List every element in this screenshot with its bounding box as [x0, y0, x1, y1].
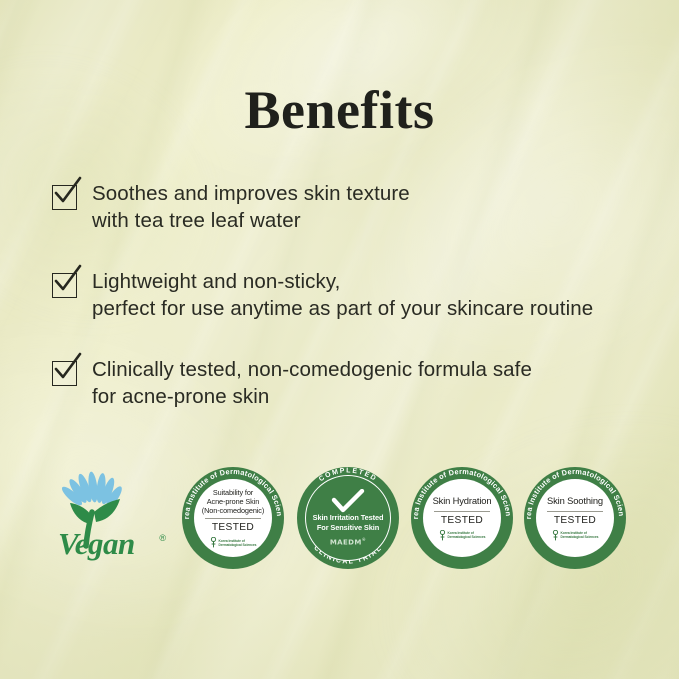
- benefit-line-1: Lightweight and non-sticky,: [92, 270, 340, 293]
- check-icon: [331, 489, 365, 513]
- benefit-line-2: perfect for use anytime as part of your …: [92, 295, 593, 322]
- list-item: Lightweight and non-sticky, perfect for …: [52, 268, 652, 322]
- benefits-list: Soothes and improves skin texture with t…: [52, 180, 652, 444]
- seal-skin-hydration: Korea Institute of Dermatological Scienc…: [410, 466, 514, 570]
- list-item-text: Clinically tested, non-comedogenic formu…: [92, 356, 532, 410]
- checkmark-icon: [52, 185, 77, 210]
- seal-footer-text: Korea Institute of Dermatological Scienc…: [219, 539, 257, 547]
- seal-line-2: Acne-prone Skin: [207, 497, 259, 506]
- vegan-wordmark: Vegan: [58, 526, 135, 562]
- benefit-line-1: Clinically tested, non-comedogenic formu…: [92, 358, 532, 381]
- brand-mark: MAEDM®: [330, 537, 366, 546]
- seal-clinical-trial: COMPLETED CLINICAL TRIAL Skin Irritation…: [296, 466, 400, 570]
- divider: [434, 511, 490, 512]
- seal-status: TESTED: [441, 515, 483, 526]
- seal-line-1: Suitability for: [213, 488, 253, 497]
- divider: [205, 518, 261, 519]
- seal-status: TESTED: [554, 515, 596, 526]
- seal-line-3: (Non-comedogenic): [202, 506, 264, 515]
- seal-line-1: Skin Hydration: [433, 495, 492, 507]
- seal-footer-text: Korea Institute of Dermatological Scienc…: [448, 531, 486, 539]
- korea-institute-logo-icon: Korea Institute of Dermatological Scienc…: [552, 530, 599, 541]
- korea-institute-logo-icon: Korea Institute of Dermatological Scienc…: [210, 537, 257, 548]
- korea-institute-logo-icon: Korea Institute of Dermatological Scienc…: [439, 530, 486, 541]
- seal-status: TESTED: [212, 522, 254, 533]
- list-item: Clinically tested, non-comedogenic formu…: [52, 356, 652, 410]
- benefit-line-2: with tea tree leaf water: [92, 207, 410, 234]
- seal-line-1: Skin Irritation Tested: [313, 513, 384, 523]
- seal-acne-prone-suitability: Korea Institute of Dermatological Scienc…: [181, 466, 285, 570]
- seal-footer-text: Korea Institute of Dermatological Scienc…: [561, 531, 599, 539]
- checkmark-icon: [52, 361, 77, 386]
- seal-line-2: For Sensitive Skin: [317, 523, 379, 533]
- vegan-logo: Vegan ®: [50, 470, 168, 570]
- certification-seals: Vegan ® Korea Institute of Dermatologica…: [0, 462, 679, 582]
- seal-skin-soothing: Korea Institute of Dermatological Scienc…: [523, 466, 627, 570]
- page-title: Benefits: [0, 79, 679, 141]
- registered-mark: ®: [159, 533, 166, 543]
- benefit-line-1: Soothes and improves skin texture: [92, 182, 410, 205]
- seal-inner: Skin Soothing TESTED Korea Institute of …: [536, 479, 614, 557]
- seal-inner: Suitability for Acne-prone Skin (Non-com…: [194, 479, 272, 557]
- checkmark-icon: [52, 273, 77, 298]
- seal-inner: Skin Hydration TESTED Korea Institute of…: [423, 479, 501, 557]
- list-item-text: Soothes and improves skin texture with t…: [92, 180, 410, 234]
- benefits-infographic: Benefits Soothes and improves skin textu…: [0, 0, 679, 679]
- seal-inner: Skin Irritation Tested For Sensitive Ski…: [305, 475, 391, 561]
- seal-line-1: Skin Soothing: [547, 495, 603, 507]
- divider: [547, 511, 603, 512]
- list-item-text: Lightweight and non-sticky, perfect for …: [92, 268, 593, 322]
- benefit-line-2: for acne-prone skin: [92, 383, 532, 410]
- list-item: Soothes and improves skin texture with t…: [52, 180, 652, 234]
